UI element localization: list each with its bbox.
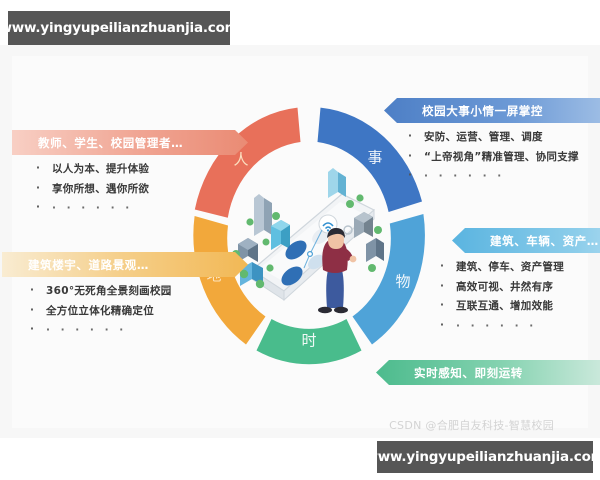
ring-label-time: 时 [301,332,316,350]
callout-people-banner[interactable]: 教师、学生、校园管理者… [12,130,248,155]
list-item: · · · · · · [26,203,198,214]
callout-people: 教师、学生、校园管理者… 以人为本、提升体验 享你所想、遇你所欲 · · · ·… [12,130,198,223]
isometric-smart-city-illustration [224,158,390,324]
bottom-url-watermark: www.yingyupeilianzhuanjia.com [377,441,593,473]
list-item: 以人为本、提升体验 [26,164,198,175]
ring-label-thing: 物 [395,273,410,291]
list-item: · · · · · · [430,321,600,332]
callout-event: 校园大事小情一屏掌控 安防、运营、管理、调度 “上帝视角”精准管理、协同支撑 ·… [384,98,590,191]
list-item: 安防、运营、管理、调度 [398,132,590,143]
list-item: · · · · · · [20,325,198,336]
list-item: 全方位立体化精确定位 [20,306,198,317]
top-url-watermark: www.yingyupeilianzhuanjia.com [8,11,230,45]
callout-event-banner[interactable]: 校园大事小情一屏掌控 [384,98,600,123]
callout-event-title: 校园大事小情一屏掌控 [422,103,543,119]
callout-people-title: 教师、学生、校园管理者… [38,135,183,151]
csdn-watermark: CSDN @合肥自友科技-智慧校园 [389,417,554,433]
callout-people-bullets: 以人为本、提升体验 享你所想、遇你所欲 · · · · · · [26,164,198,214]
callout-time-title: 实时感知、即刻运转 [414,365,523,381]
list-item: 高效可视、井然有序 [430,282,600,293]
list-item: · · · · · · [398,171,590,182]
callout-thing-title: 建筑、车辆、资产… [490,233,599,249]
callout-time: 实时感知、即刻运转 [376,360,548,385]
list-item: 360°无死角全景刻画校园 [20,286,198,297]
callout-thing-bullets: 建筑、停车、资产管理 高效可视、井然有序 互联互通、增加效能 · · · · ·… [430,262,600,331]
callout-place-title: 建筑楼宇、道路景观… [28,257,149,273]
callout-thing-banner[interactable]: 建筑、车辆、资产… [452,228,600,253]
callout-time-banner[interactable]: 实时感知、即刻运转 [376,360,600,385]
list-item: 享你所想、遇你所欲 [26,184,198,195]
callout-thing: 建筑、车辆、资产… 建筑、停车、资产管理 高效可视、井然有序 互联互通、增加效能… [452,228,600,340]
slide-canvas: 人 事 物 时 地 [0,0,600,480]
list-item: 互联互通、增加效能 [430,301,600,312]
callout-place: 建筑楼宇、道路景观… 360°无死角全景刻画校园 全方位立体化精确定位 · · … [2,252,198,345]
callout-place-bullets: 360°无死角全景刻画校园 全方位立体化精确定位 · · · · · · [20,286,198,336]
callout-event-bullets: 安防、运营、管理、调度 “上帝视角”精准管理、协同支撑 · · · · · · [398,132,590,182]
callout-place-banner[interactable]: 建筑楼宇、道路景观… [2,252,248,277]
list-item: 建筑、停车、资产管理 [430,262,600,273]
list-item: “上帝视角”精准管理、协同支撑 [398,152,590,163]
